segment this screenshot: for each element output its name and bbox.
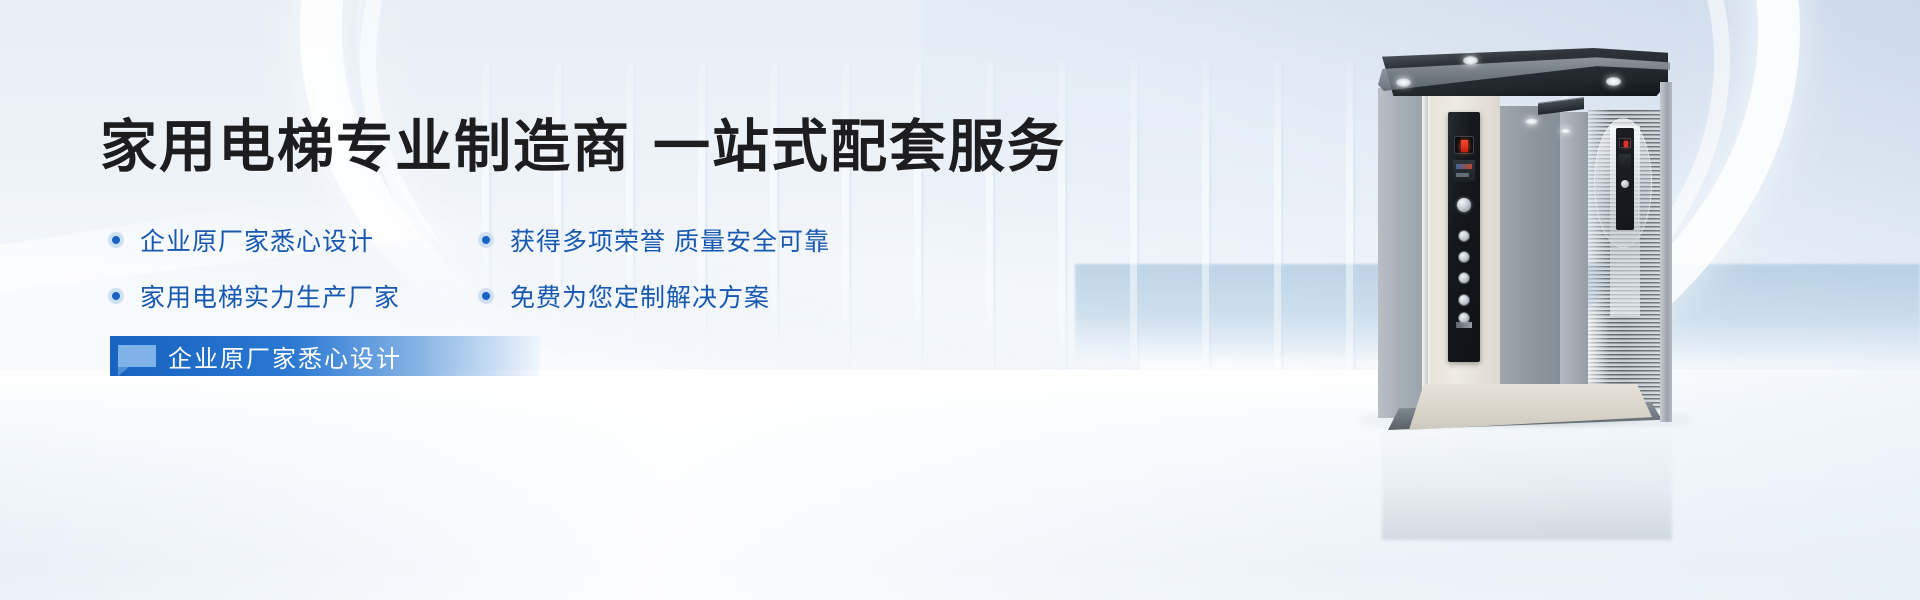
elevator-floor-reflection	[1382, 420, 1672, 540]
floor-button-icon-3	[1458, 272, 1470, 284]
feature-list: 企业原厂家悉心设计 获得多项荣誉 质量安全可靠 家用电梯实力生产厂家 免费为您定…	[108, 212, 928, 324]
ceiling-spotlight-icon-2	[1396, 78, 1411, 87]
floor-button-icon-2	[1458, 251, 1470, 263]
elevator-back-panel-grey	[1500, 106, 1560, 406]
bullet-dot-icon	[478, 232, 494, 248]
tag-label: 企业原厂家悉心设计	[168, 339, 402, 374]
feature-label-2: 获得多项荣誉 质量安全可靠	[510, 222, 830, 258]
hero-banner: 家用电梯专业制造商一站式配套服务 企业原厂家悉心设计 获得多项荣誉 质量安全可靠…	[0, 0, 1920, 600]
floor-button-group	[1448, 230, 1480, 329]
ceiling-spotlight-icon-1	[1463, 56, 1478, 65]
elevator-cabin-image	[1378, 48, 1670, 420]
floor-button-icon-1	[1458, 230, 1470, 242]
bullet-dot-icon	[108, 288, 124, 304]
elevator-left-exterior-wall	[1378, 88, 1428, 418]
brand-plate-icon	[1456, 322, 1472, 328]
ceiling-spotlight-icon-4	[1525, 118, 1538, 125]
feature-item-4: 免费为您定制解决方案	[478, 278, 858, 314]
door-open-button-icon	[1458, 294, 1470, 306]
banner-copy-block: 家用电梯专业制造商一站式配套服务 企业原厂家悉心设计 获得多项荣誉 质量安全可靠…	[100, 0, 1100, 600]
elevator-door-jamb-highlight	[1422, 92, 1430, 412]
tag-ribbon-icon	[118, 345, 156, 367]
elevator-right-pillar	[1660, 82, 1672, 422]
feature-item-1: 企业原厂家悉心设计	[108, 222, 478, 258]
feature-label-3: 家用电梯实力生产厂家	[140, 278, 400, 314]
feature-item-2: 获得多项荣誉 质量安全可靠	[478, 222, 858, 258]
feature-item-3: 家用电梯实力生产厂家	[108, 278, 478, 314]
floor-indicator-display	[1454, 136, 1474, 154]
headline-part-1: 家用电梯专业制造商	[100, 115, 631, 179]
headline-part-2: 一站式配套服务	[653, 115, 1066, 179]
reflected-label-strip	[1619, 154, 1631, 168]
reflected-floor-display-icon	[1619, 138, 1631, 148]
control-panel-label-plate	[1453, 160, 1475, 182]
emergency-call-button-icon	[1457, 198, 1471, 212]
page-title: 家用电梯专业制造商一站式配套服务	[100, 115, 1066, 181]
elevator-reflected-control-panel	[1616, 128, 1634, 230]
elevator-back-panel-steel	[1560, 112, 1588, 402]
bullet-dot-icon	[108, 232, 124, 248]
feature-label-4: 免费为您定制解决方案	[510, 278, 770, 314]
ceiling-spotlight-icon-5	[1560, 128, 1571, 134]
ceiling-spotlight-icon-3	[1606, 77, 1621, 86]
elevator-control-panel	[1448, 112, 1480, 362]
bullet-dot-icon	[478, 288, 494, 304]
reflected-button-icon	[1621, 180, 1629, 188]
highlight-tag-bar[interactable]: 企业原厂家悉心设计	[110, 336, 540, 376]
feature-label-1: 企业原厂家悉心设计	[140, 222, 374, 258]
